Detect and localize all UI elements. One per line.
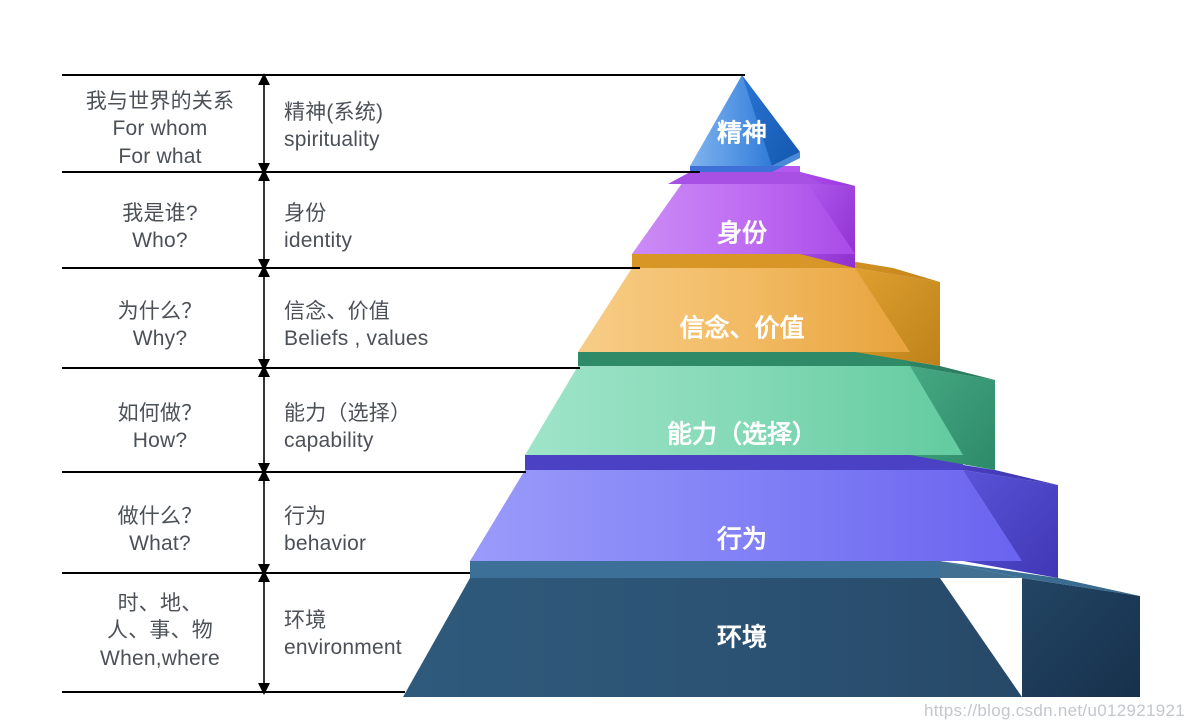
level-description-table: 我与世界的关系 For whom For what 精神(系统) spiritu… (0, 0, 1191, 726)
levelname-behavior: 行为 behavior (284, 503, 554, 558)
diagram-canvas: 精神 身份 信念、价值 能力（选择） 行为 环境 我与世界的关系 For who… (0, 0, 1191, 726)
question-beliefs: 为什么？ Why? (62, 298, 258, 353)
question-environment: 时、地、 人、事、物 When,where (62, 590, 258, 672)
levelname-spirituality: 精神(系统) spirituality (284, 99, 554, 154)
question-behavior: 做什么？ What? (62, 503, 258, 558)
question-capability: 如何做？ How? (62, 400, 258, 455)
levelname-beliefs: 信念、价值 Beliefs , values (284, 298, 554, 353)
watermark-url: https://blog.csdn.net/u012921921 (924, 701, 1185, 721)
question-identity: 我是谁? Who? (62, 200, 258, 255)
levelname-capability: 能力（选择） capability (284, 400, 554, 455)
question-spirituality: 我与世界的关系 For whom For what (62, 88, 258, 170)
levelname-identity: 身份 identity (284, 200, 554, 255)
levelname-environment: 环境 environment (284, 607, 554, 662)
